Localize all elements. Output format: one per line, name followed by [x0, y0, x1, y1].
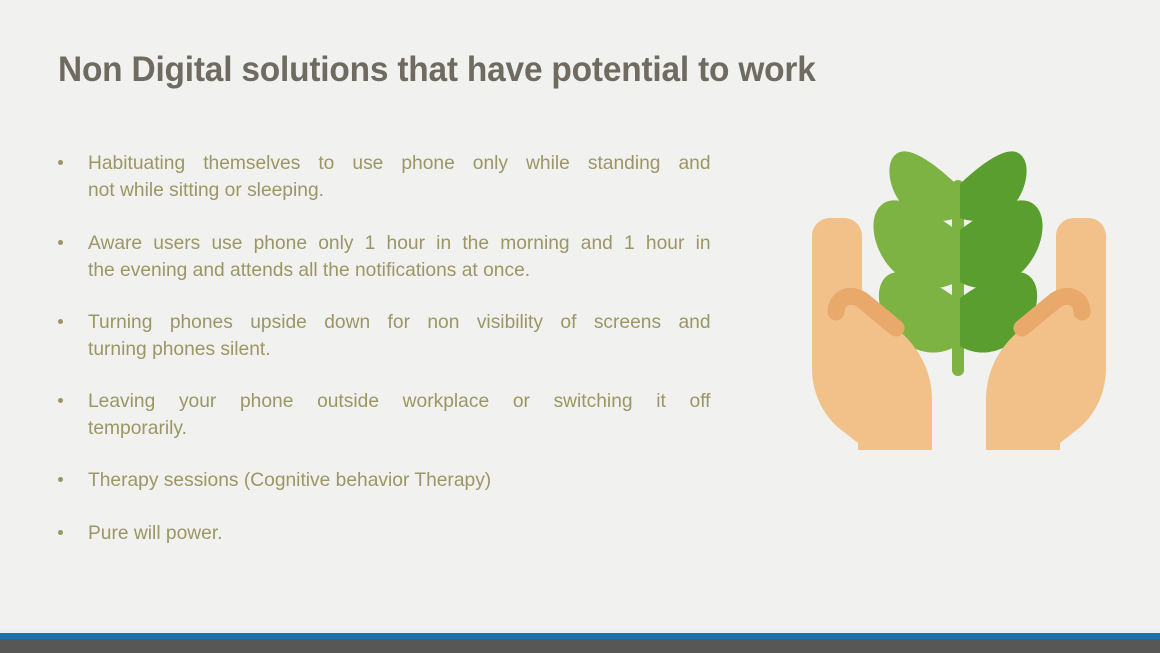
spacer [52, 283, 720, 309]
list-item: Turning phones upside down for non visib… [52, 309, 720, 362]
list-item: Aware users use phone only 1 hour in the… [52, 230, 720, 283]
list-item: Leaving your phone outside workplace or … [52, 388, 720, 441]
bottom-accent-bars [0, 630, 1160, 653]
bullet-dot-icon [58, 160, 63, 165]
spacer [52, 362, 720, 388]
slide-canvas: Non Digital solutions that have potentia… [0, 0, 1160, 653]
page-title: Non Digital solutions that have potentia… [58, 50, 918, 90]
bullet-dot-icon [58, 240, 63, 245]
bullet-list: Habituating themselves to use phone only… [52, 150, 720, 546]
list-item: Habituating themselves to use phone only… [52, 150, 720, 203]
spacer [52, 494, 720, 520]
spacer [52, 203, 720, 230]
list-item: Pure will power. [52, 520, 720, 547]
spacer [52, 441, 720, 467]
list-item-line: not while sitting or sleeping. [88, 177, 711, 204]
list-item: Therapy sessions (Cognitive behavior The… [52, 467, 720, 494]
accent-bar-gray [0, 639, 1160, 653]
bullet-dot-icon [58, 319, 63, 324]
list-item-text: Leaving your phone outside workplace or … [88, 388, 711, 441]
list-item-line: Leaving your phone outside workplace or … [88, 388, 711, 415]
bullet-dot-icon [58, 398, 63, 403]
list-item-text: Therapy sessions (Cognitive behavior The… [88, 467, 711, 494]
list-item-line: turning phones silent. [88, 336, 711, 363]
list-item-text: Turning phones upside down for non visib… [88, 309, 711, 362]
bullet-dot-icon [58, 530, 63, 535]
list-item-line: temporarily. [88, 415, 711, 442]
list-item-line: the evening and attends all the notifica… [88, 257, 711, 284]
hands-holding-plant-illustration [800, 132, 1118, 450]
list-item-text: Habituating themselves to use phone only… [88, 150, 711, 203]
list-item-text: Aware users use phone only 1 hour in the… [88, 230, 711, 283]
list-item-line: Turning phones upside down for non visib… [88, 309, 711, 336]
list-item-text: Pure will power. [88, 520, 711, 547]
list-item-line: Habituating themselves to use phone only… [88, 150, 711, 177]
list-item-line: Aware users use phone only 1 hour in the… [88, 230, 711, 257]
bullet-dot-icon [58, 477, 63, 482]
